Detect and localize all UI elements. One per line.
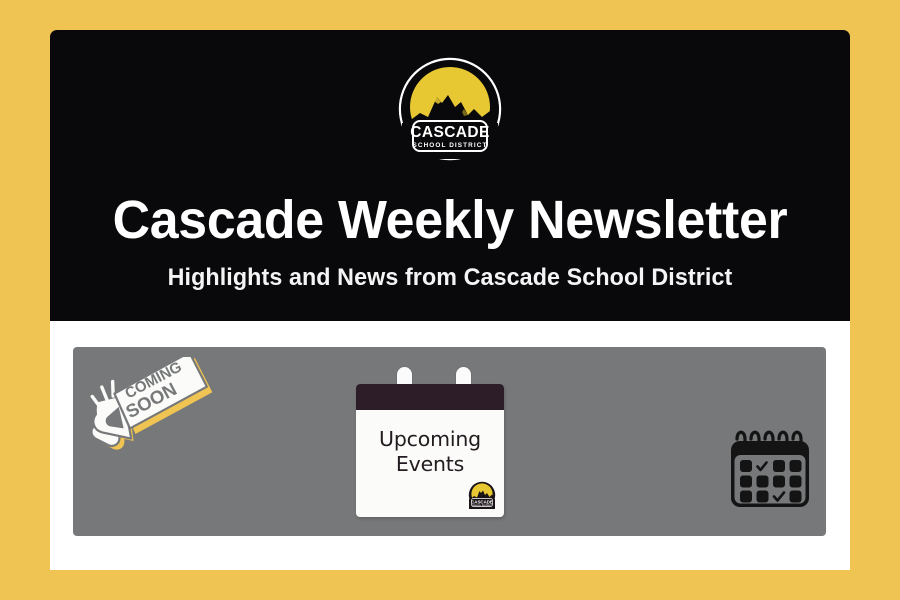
cascade-school-district-logo: CASCADE SCHOOL DISTRICT — [398, 57, 502, 161]
events-logo-wordmark: CASCADE — [471, 499, 493, 504]
events-card-title-line1: Upcoming — [362, 427, 498, 452]
hero-media-block: COMING SOON Upcoming Events — [73, 347, 826, 536]
calendar-card-header — [356, 384, 504, 410]
newsletter-body: COMING SOON Upcoming Events — [50, 321, 850, 570]
newsletter-page: CASCADE SCHOOL DISTRICT Cascade Weekly N… — [0, 0, 900, 600]
calendar-card-icon: Upcoming Events CASCADE SCHOOL DISTRICT — [356, 367, 504, 517]
events-logo-tagline: SCHOOL DISTRICT — [472, 505, 494, 507]
cascade-school-district-logo-small: CASCADE SCHOOL DISTRICT — [468, 481, 496, 509]
logo-wordmark: CASCADE — [410, 124, 489, 141]
newsletter-header: CASCADE SCHOOL DISTRICT Cascade Weekly N… — [50, 30, 850, 321]
logo-tagline: SCHOOL DISTRICT — [413, 142, 488, 149]
page-subtitle: Highlights and News from Cascade School … — [62, 263, 838, 293]
calendar-card-body: Upcoming Events CASCADE SCHOOL DISTRICT — [356, 384, 504, 517]
headline-block: Cascade Weekly Newsletter Highlights and… — [50, 190, 850, 321]
megaphone-icon: COMING SOON — [81, 357, 221, 461]
events-card-title-line2: Events — [362, 452, 498, 477]
events-card-title: Upcoming Events — [356, 410, 504, 477]
page-title: Cascade Weekly Newsletter — [66, 190, 834, 250]
spiral-calendar-icon — [725, 423, 815, 513]
